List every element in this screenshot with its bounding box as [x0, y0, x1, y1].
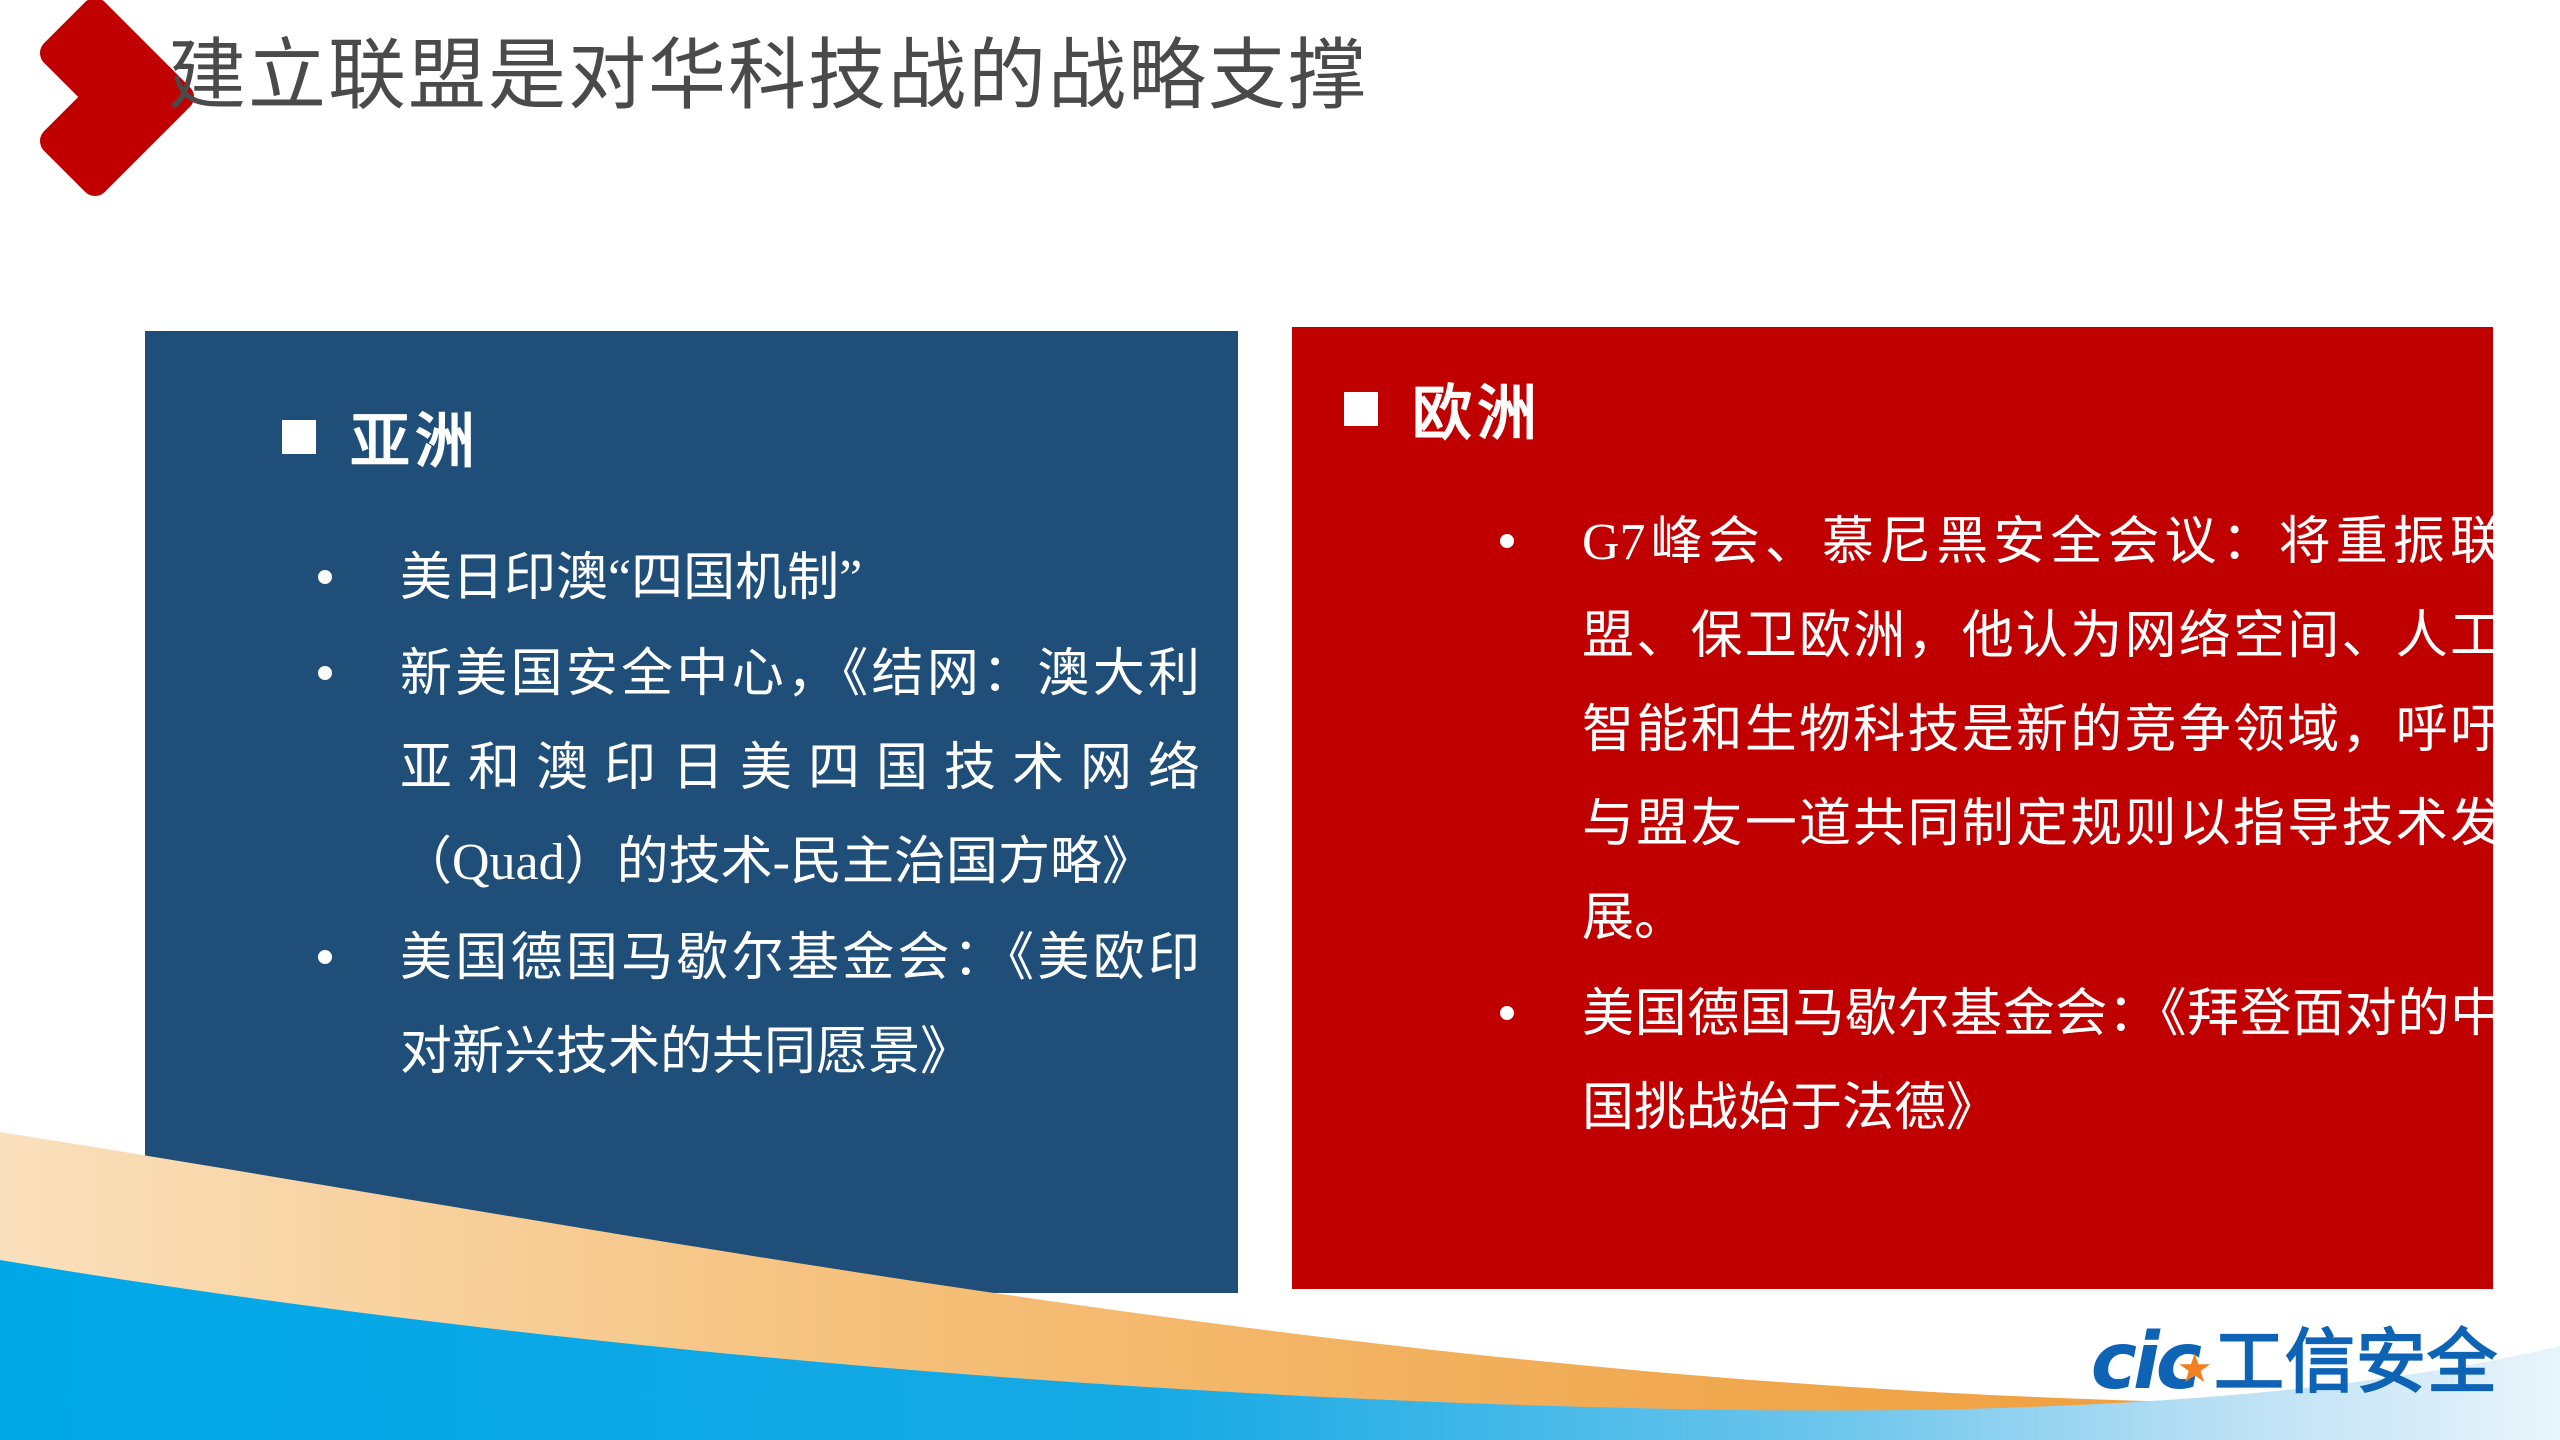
page-title: 建立联盟是对华科技战的战略支撑: [168, 6, 1368, 146]
panel-asia: 亚洲 美日印澳“四国机制” 新美国安全中心，《结网：澳大利亚和澳印日美四国技术网…: [145, 331, 1238, 1293]
list-item-text: 美国德国马歇尔基金会：《美欧印对新兴技术的共同愿景》: [400, 930, 1200, 1081]
list-item: 美国德国马歇尔基金会：《拜登面对的中国挑战始于法德》: [1582, 968, 2502, 1156]
panel-europe-title: 欧洲: [1412, 365, 1542, 452]
square-bullet-icon: [282, 420, 316, 454]
panel-europe-header: 欧洲: [1344, 365, 2493, 452]
cic-logo-mark: cic ★: [2091, 1323, 2198, 1401]
list-item-text: 美日印澳“四国机制”: [400, 550, 862, 607]
bullet-dot-icon: [318, 666, 332, 680]
star-icon: ★: [2177, 1349, 2209, 1389]
panel-asia-bullet-list: 美日印澳“四国机制” 新美国安全中心，《结网：澳大利亚和澳印日美四国技术网络（Q…: [400, 532, 1200, 1100]
bullet-dot-icon: [318, 950, 332, 964]
panel-asia-header: 亚洲: [282, 393, 1238, 480]
square-bullet-icon: [1344, 392, 1378, 426]
list-item-text: G7峰会、慕尼黑安全会议：将重振联盟、保卫欧洲，他认为网络空间、人工智能和生物科…: [1582, 514, 2502, 947]
cic-logo-name: 工信安全: [2214, 1327, 2498, 1397]
panel-europe-bullet-list: G7峰会、慕尼黑安全会议：将重振联盟、保卫欧洲，他认为网络空间、人工智能和生物科…: [1582, 496, 2502, 1156]
list-item: 美日印澳“四国机制”: [400, 532, 1200, 626]
footer-logo: cic ★ 工信安全: [2091, 1314, 2498, 1410]
bullet-dot-icon: [1500, 1006, 1514, 1020]
red-diamond-cluster-icon: [34, 12, 174, 152]
bullet-dot-icon: [318, 570, 332, 584]
slide-root: 建立联盟是对华科技战的战略支撑 亚洲 美日印澳“四国机制” 新美国安全中心，《结…: [0, 0, 2560, 1440]
list-item: 新美国安全中心，《结网：澳大利亚和澳印日美四国技术网络（Quad）的技术-民主治…: [400, 628, 1200, 910]
list-item-text: 新美国安全中心，《结网：澳大利亚和澳印日美四国技术网络（Quad）的技术-民主治…: [400, 646, 1200, 891]
slide-title-bar: 建立联盟是对华科技战的战略支撑: [0, 0, 2560, 160]
panel-asia-title: 亚洲: [350, 393, 480, 480]
panel-europe: 欧洲 G7峰会、慕尼黑安全会议：将重振联盟、保卫欧洲，他认为网络空间、人工智能和…: [1292, 327, 2493, 1289]
list-item: 美国德国马歇尔基金会：《美欧印对新兴技术的共同愿景》: [400, 912, 1200, 1100]
list-item: G7峰会、慕尼黑安全会议：将重振联盟、保卫欧洲，他认为网络空间、人工智能和生物科…: [1582, 496, 2502, 966]
list-item-text: 美国德国马歇尔基金会：《拜登面对的中国挑战始于法德》: [1582, 986, 2502, 1137]
bullet-dot-icon: [1500, 534, 1514, 548]
